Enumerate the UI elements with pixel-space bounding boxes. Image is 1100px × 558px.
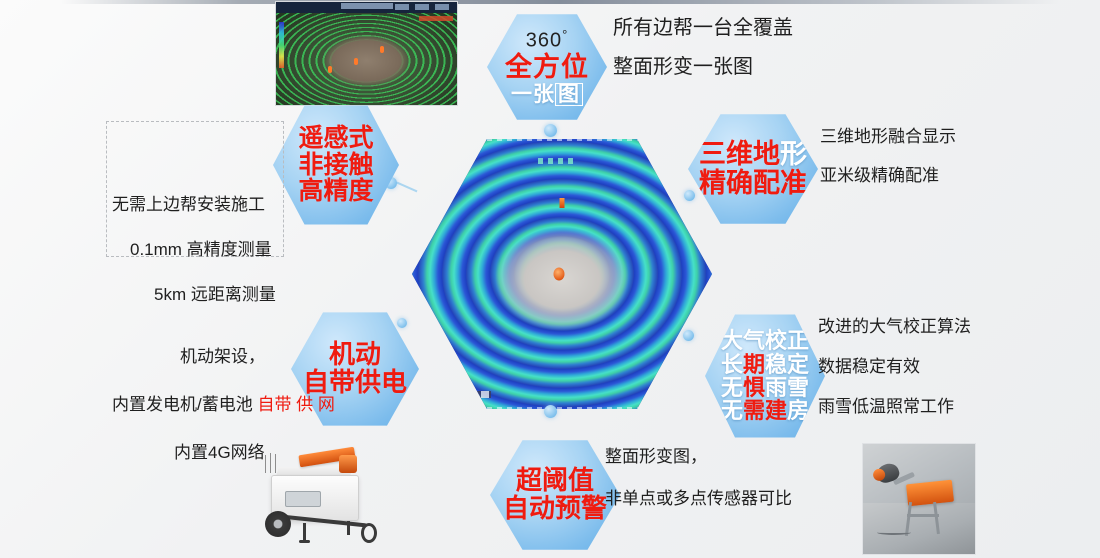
slide-canvas: 360° 全方位 一张图 遥感式 非接触 高精度 三维地形 精确配准 机动 自带… — [0, 0, 1100, 558]
connector-dot — [397, 318, 407, 328]
hex-atmos-row: 大气校正 — [721, 329, 809, 352]
aerial-mine-screenshot-image — [275, 1, 458, 106]
caption-mobile-row2: 内置发电机/蓄电池 自带 供 网 — [112, 390, 335, 415]
hex-remote-line1: 遥感式 — [298, 125, 373, 152]
field-radar-sensor-image — [862, 443, 976, 555]
hex-3d-line1: 三维地形 — [699, 140, 807, 169]
caption-remote-sensing: 无需上边帮安装施工 0.1mm 高精度测量 5km 远距离测量 — [112, 190, 276, 305]
sensor-cable — [877, 530, 911, 535]
caption-360-row1: 所有边帮一台全覆盖 — [613, 18, 793, 38]
aerial-marker-pin — [328, 66, 332, 73]
caption-mobile-row3: 内置4G网络 — [112, 438, 335, 463]
caption-3d-row2: 亚米级精确配准 — [820, 167, 956, 184]
aerial-marker-pin — [380, 46, 384, 53]
hexagon-remote-sensing[interactable]: 遥感式 非接触 高精度 — [273, 103, 399, 227]
hexagon-3d-terrain-registration[interactable]: 三维地形 精确配准 — [688, 112, 818, 226]
caption-atmospheric: 改进的大气校正算法 数据稳定有效 雨雪低温照常工作 — [818, 318, 971, 415]
central-3d-deformation-map — [412, 139, 712, 409]
aerial-marker-pin — [354, 58, 358, 65]
trailer-hitch-wheel — [361, 523, 377, 543]
connector-dot — [684, 190, 695, 201]
caption-alarm-row1: 整面形变图， — [605, 448, 792, 465]
aerial-satellite-view — [276, 13, 457, 105]
radar-head — [339, 455, 357, 473]
caption-remote-row2: 0.1mm 高精度测量 — [112, 235, 276, 260]
caption-remote-row3: 5km 远距离测量 — [112, 280, 276, 305]
caption-atmos-row2: 数据稳定有效 — [818, 358, 971, 375]
top-divider-bar — [60, 0, 1060, 4]
aerial-color-legend — [279, 22, 284, 68]
hexagon-threshold-auto-alarm[interactable]: 超阈值 自动预警 — [490, 438, 620, 552]
trailer-support-leg — [303, 523, 306, 541]
trailer-support-leg — [347, 521, 350, 535]
caption-alarm-row2: 非单点或多点传感器可比 — [605, 490, 792, 507]
sensor-orange-housing — [906, 480, 954, 507]
caption-alarm: 整面形变图， 非单点或多点传感器可比 — [605, 448, 792, 507]
hex-360-line2: 全方位 — [505, 53, 589, 82]
caption-360-coverage: 所有边帮一台全覆盖 整面形变一张图 — [613, 18, 793, 77]
hexagon-atmospheric-correction[interactable]: 大气校正 长期稳定 无惧雨雪 无需建房 — [705, 312, 825, 440]
terrain-top-label — [538, 158, 576, 164]
hex-360-line3: 一张图 — [511, 83, 583, 106]
rocky-ground — [863, 503, 975, 554]
caption-3d-terrain: 三维地形融合显示 亚米级精确配准 — [820, 128, 956, 184]
hexagon-360-panorama[interactable]: 360° 全方位 一张图 — [487, 12, 607, 122]
hex-mobile-line1: 机动 — [329, 341, 381, 369]
hex-remote-line2: 非接触 — [298, 152, 373, 179]
connector-dot — [544, 405, 557, 418]
connector-dot — [683, 330, 694, 341]
caption-360-row2: 整面形变一张图 — [613, 57, 793, 77]
aerial-app-title — [341, 3, 393, 9]
trailer-vent-window — [285, 491, 321, 507]
trailer-wheel — [265, 511, 291, 537]
caption-mobile-row1: 机动架设， — [112, 342, 335, 367]
terrain-center-hotspot — [554, 268, 565, 281]
caption-atmos-row1: 改进的大气校正算法 — [818, 318, 971, 335]
hex-atmos-row: 无需建房 — [721, 399, 809, 422]
terrain-alert-marker — [560, 198, 565, 208]
hex-alarm-line1: 超阈值 — [516, 467, 594, 495]
hex-360-line1: 360° — [526, 28, 569, 52]
hex-alarm-line2: 自动预警 — [503, 495, 607, 523]
aerial-app-titlebar — [276, 2, 457, 13]
hex-atmos-row: 长期稳定 — [721, 353, 809, 376]
connector-dot — [544, 124, 557, 137]
hex-atmos-row: 无惧雨雪 — [721, 376, 809, 399]
caption-atmos-row3: 雨雪低温照常工作 — [818, 398, 971, 415]
connector-line — [397, 182, 418, 193]
terrain-scale-bar — [433, 391, 491, 398]
aerial-alert-badge — [419, 16, 453, 21]
caption-mobile-power: 机动架设， 内置发电机/蓄电池 自带 供 网 内置4G网络 — [112, 342, 335, 463]
caption-3d-row1: 三维地形融合显示 — [820, 128, 956, 145]
hex-3d-line2: 精确配准 — [699, 169, 807, 198]
aerial-app-buttons — [395, 4, 451, 10]
caption-remote-row1: 无需上边帮安装施工 — [112, 190, 276, 215]
hex-remote-line3: 高精度 — [298, 178, 373, 205]
